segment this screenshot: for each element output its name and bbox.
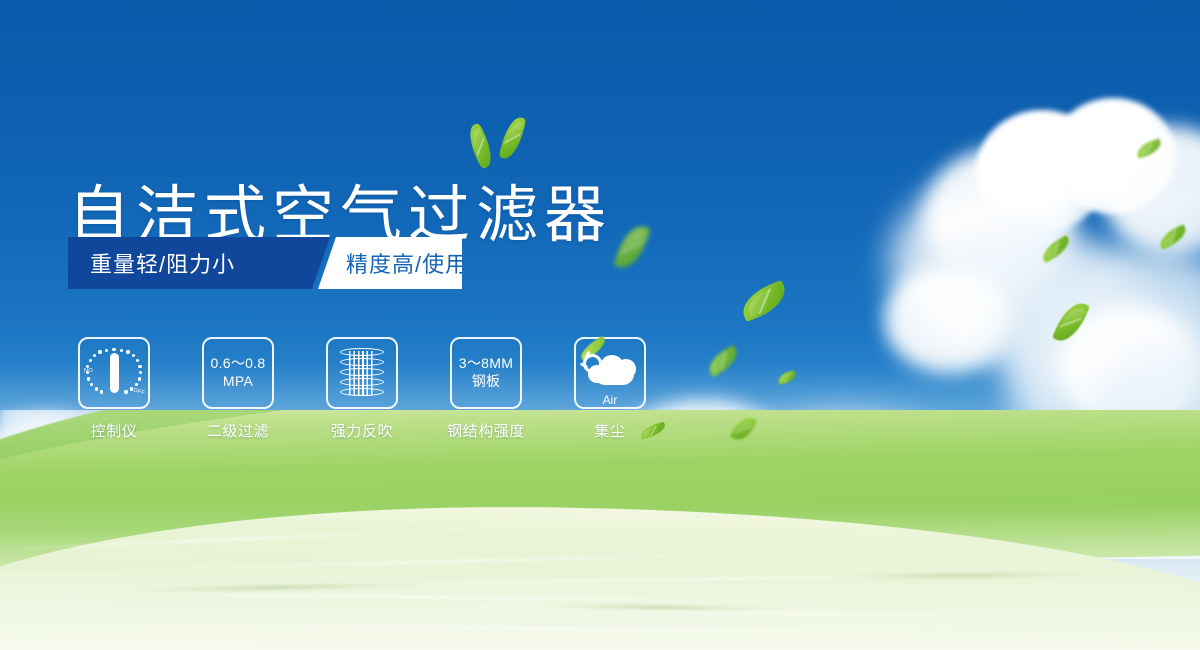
subtitle-segment-left: 重量轻/阻力小	[68, 237, 330, 289]
steel-plate-text: 钢板	[472, 373, 501, 391]
feature-item-backblow[interactable]: 强力反吹	[326, 337, 398, 441]
feature-item-secondary-filter[interactable]: 0.6～0.8 MPA 二级过滤	[202, 337, 274, 441]
feature-label-controller: 控制仪	[91, 420, 138, 441]
sprout-leaf-left	[464, 122, 497, 169]
feature-box-pressure: 0.6～0.8 MPA	[202, 337, 274, 409]
feature-item-steel-strength[interactable]: 3～8MM 钢板 钢结构强度	[450, 337, 522, 441]
feature-box-steel: 3～8MM 钢板	[450, 337, 522, 409]
gauge-dial-icon: NO OFF	[85, 344, 143, 402]
subtitle-segment-right: 精度高/使用方便	[318, 237, 462, 289]
subtitle-right-text: 精度高/使用方便	[346, 247, 514, 279]
feature-label-steel-strength: 钢结构强度	[447, 420, 525, 441]
pressure-range-text: 0.6～0.8	[210, 355, 265, 373]
sprout-leaf-right	[498, 115, 526, 162]
filter-stack-icon	[336, 346, 388, 400]
gauge-needle	[110, 353, 119, 393]
feature-label-dust-collection: 集尘	[594, 420, 625, 441]
air-text: Air	[582, 393, 638, 407]
feature-box-air: Air	[574, 337, 646, 409]
sprout-leaves-decoration	[470, 110, 540, 162]
cloud-air-icon: Air	[582, 353, 638, 393]
steel-thickness-text: 3～8MM	[459, 355, 513, 373]
product-hero-banner: 自洁式空气过滤器 重量轻/阻力小 精度高/使用方便 NO OFF	[0, 0, 1200, 650]
feature-box-controller: NO OFF	[78, 337, 150, 409]
feature-label-backblow: 强力反吹	[331, 420, 393, 441]
feature-item-dust-collection[interactable]: Air 集尘	[574, 337, 646, 441]
subtitle-ribbon: 重量轻/阻力小 精度高/使用方便	[68, 237, 462, 289]
feature-icon-row: NO OFF	[78, 337, 646, 441]
gauge-off-label: OFF	[132, 388, 145, 397]
feature-item-controller[interactable]: NO OFF	[78, 337, 150, 441]
feature-box-backblow	[326, 337, 398, 409]
pressure-unit-text: MPA	[223, 373, 253, 391]
subtitle-left-text: 重量轻/阻力小	[90, 247, 235, 279]
feature-label-secondary-filter: 二级过滤	[207, 420, 269, 441]
